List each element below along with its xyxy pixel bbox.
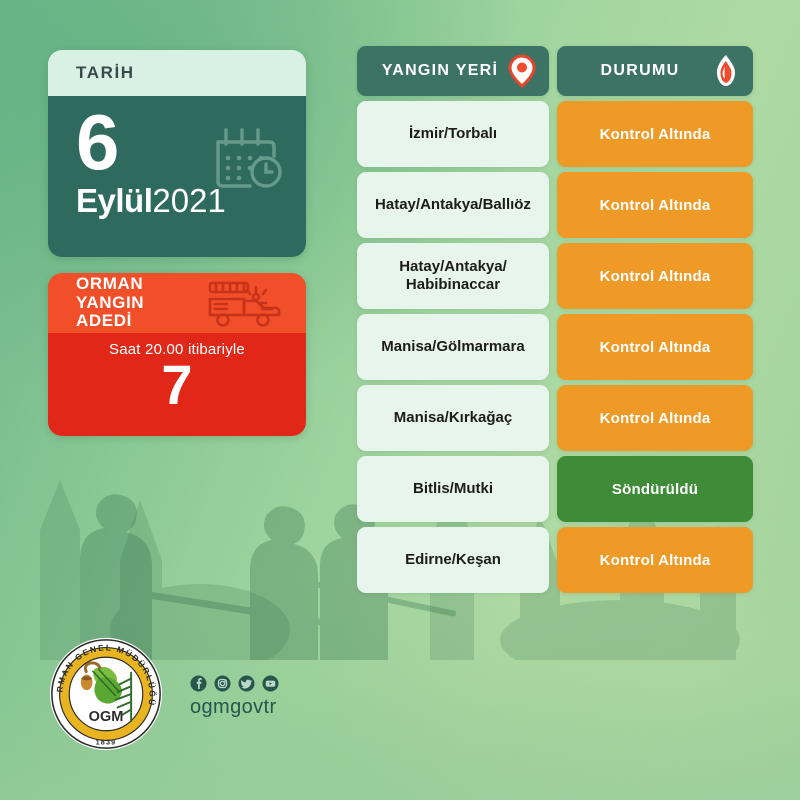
table-row: İzmir/Torbalı Kontrol Altında [357,101,753,167]
flame-icon [711,54,741,88]
date-month: Eylül [76,182,152,219]
table-header-place-label: YANGIN YERİ [382,62,499,80]
table-cell-status: Kontrol Altında [557,243,753,309]
date-card-header: TARİH [48,50,306,96]
table-row: Edirne/Keşan Kontrol Altında [357,527,753,593]
table-row: Hatay/Antakya/Ballıöz Kontrol Altında [357,172,753,238]
date-header-label: TARİH [76,63,135,83]
table-row: Manisa/Gölmarmara Kontrol Altında [357,314,753,380]
fire-count-card: ORMAN YANGIN ADEDİ [48,273,306,436]
date-card: TARİH 6 Eylül2021 [48,50,306,257]
fire-truck-icon [206,279,284,329]
fire-count-body: Saat 20.00 itibariyle 7 [48,333,306,436]
table-cell-status: Kontrol Altında [557,314,753,380]
instagram-icon[interactable] [214,675,231,692]
table-cell-status: Söndürüldü [557,456,753,522]
social-handle[interactable]: ogmgovtr [190,696,279,719]
footer: OGM ORMAN GENEL MÜDÜRLÜĞÜ 1839 [48,636,279,752]
date-card-body: 6 Eylül2021 [48,96,306,257]
youtube-icon[interactable] [262,675,279,692]
calendar-clock-icon [212,122,286,192]
social-icons [190,675,279,692]
table-row: Hatay/Antakya/ Habibinaccar Kontrol Altı… [357,243,753,309]
table-header-status: DURUMU [557,46,753,96]
table-cell-status: Kontrol Altında [557,101,753,167]
table-header-row: YANGIN YERİ DURUMU [357,46,753,96]
facebook-icon[interactable] [190,675,207,692]
table-cell-place: Manisa/Kırkağaç [357,385,549,451]
left-column: TARİH 6 Eylül2021 [48,50,306,436]
table-cell-status: Kontrol Altında [557,385,753,451]
table-cell-place: Hatay/Antakya/Ballıöz [357,172,549,238]
fire-count-value: 7 [48,356,306,413]
table-row: Manisa/Kırkağaç Kontrol Altında [357,385,753,451]
logo-monogram: OGM [89,709,124,725]
table-header-place: YANGIN YERİ [357,46,549,96]
table-cell-place: Bitlis/Mutki [357,456,549,522]
table-header-status-label: DURUMU [601,62,680,80]
table-cell-place: Edirne/Keşan [357,527,549,593]
twitter-icon[interactable] [238,675,255,692]
fire-count-header: ORMAN YANGIN ADEDİ [48,273,306,333]
table-cell-place: Manisa/Gölmarmara [357,314,549,380]
table-cell-place: Hatay/Antakya/ Habibinaccar [357,243,549,309]
table-cell-status: Kontrol Altında [557,172,753,238]
fire-count-title: ORMAN YANGIN ADEDİ [76,275,144,330]
fire-table: YANGIN YERİ DURUMU İzmir/Torbalı Kontrol… [357,46,753,593]
logo-year: 1839 [96,737,117,746]
ogm-logo: OGM ORMAN GENEL MÜDÜRLÜĞÜ 1839 [48,636,164,752]
table-cell-place: İzmir/Torbalı [357,101,549,167]
table-cell-status: Kontrol Altında [557,527,753,593]
location-pin-icon [507,54,537,88]
social-block: ogmgovtr [190,669,279,719]
table-row: Bitlis/Mutki Söndürüldü [357,456,753,522]
infographic-poster: TARİH 6 Eylül2021 [0,0,800,800]
